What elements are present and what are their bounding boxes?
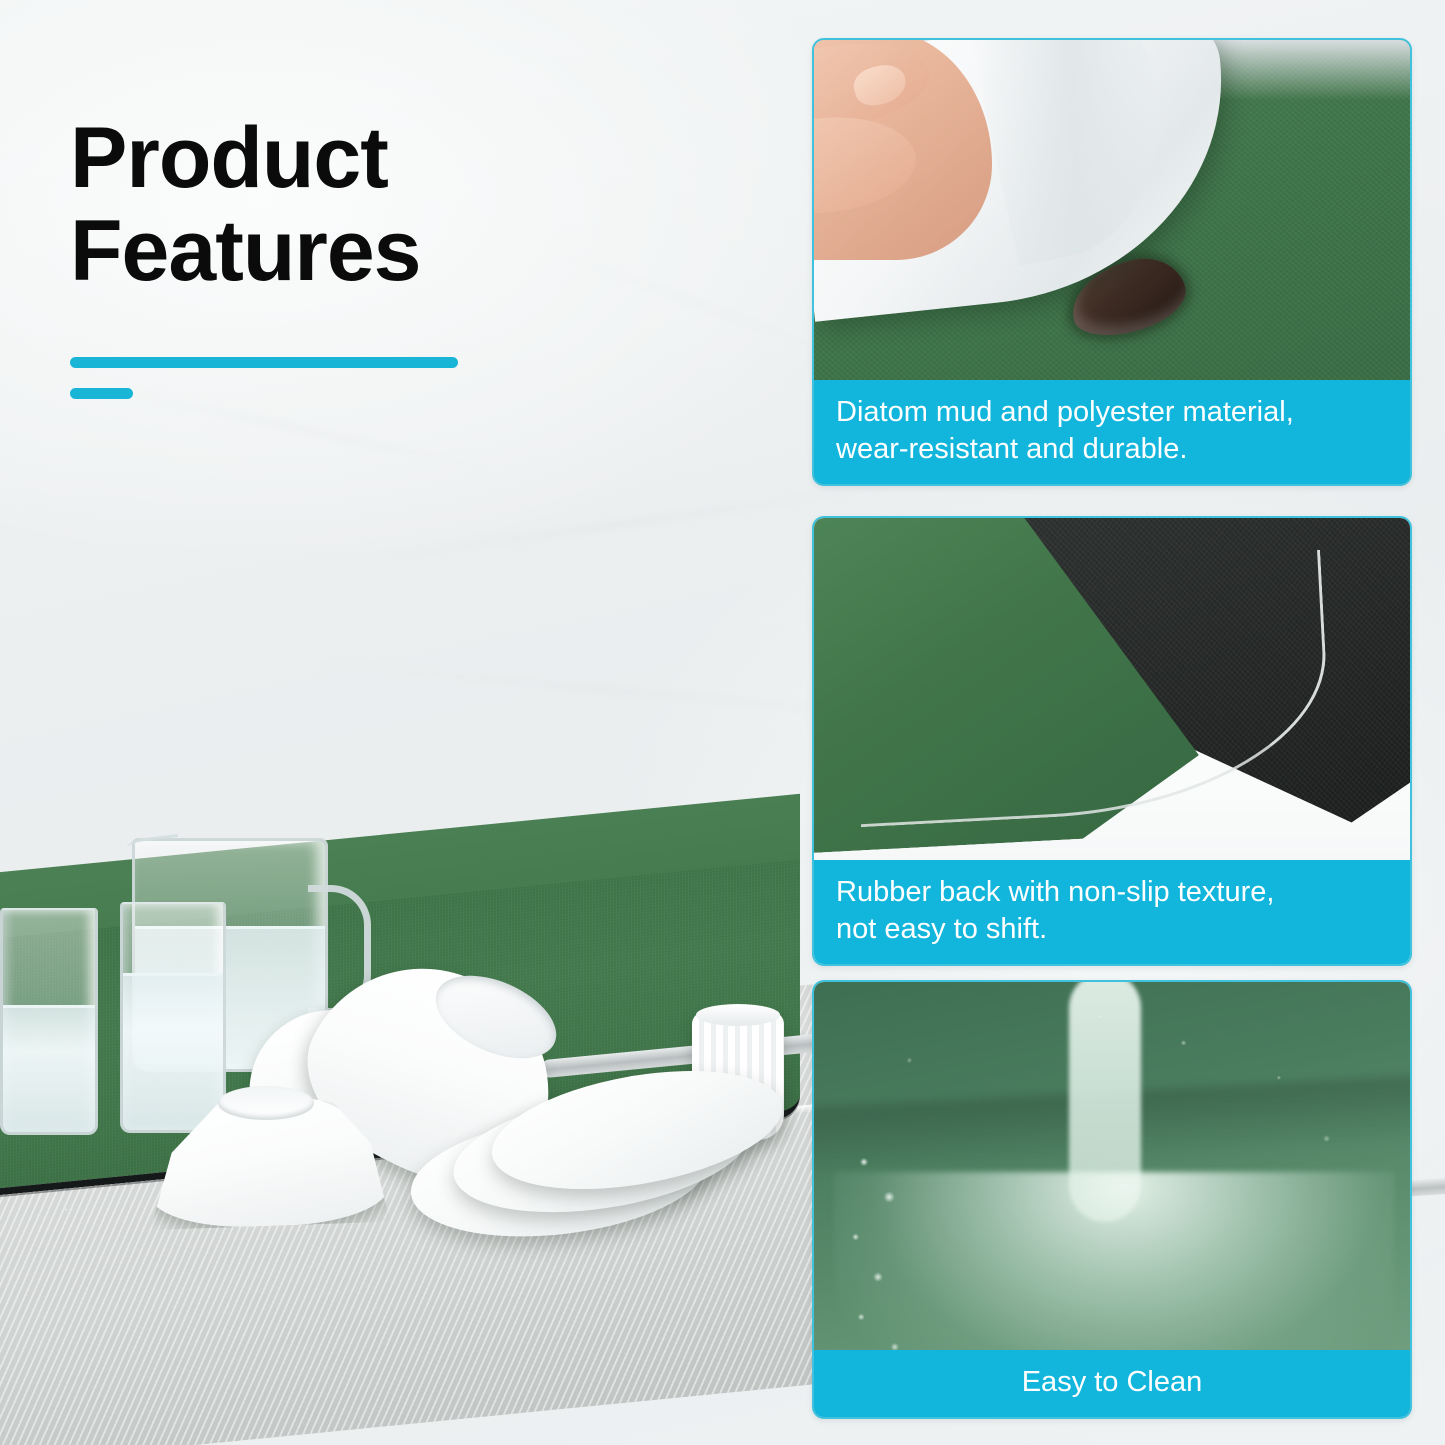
pitcher-spout — [126, 834, 180, 859]
feature-card-material: Diatom mud and polyester material, wear-… — [812, 38, 1412, 486]
feature-photo-non-slip: Rubber back with non-slip texture, not e… — [814, 518, 1410, 964]
product-features-poster: Product Features — [0, 0, 1445, 1445]
drinking-glass — [120, 902, 226, 1133]
feature-card-non-slip: Rubber back with non-slip texture, not e… — [812, 516, 1412, 966]
bowl-foot — [218, 1086, 314, 1120]
glass-water — [123, 973, 223, 1130]
feature-photo-material: Diatom mud and polyester material, wear-… — [814, 40, 1410, 484]
glass-water — [3, 1005, 95, 1132]
hero-product-scene — [0, 760, 840, 1445]
finger — [814, 111, 920, 220]
marble-vein — [124, 391, 496, 472]
feature-photo-easy-clean: Easy to Clean — [814, 982, 1410, 1417]
mat-fold-edge — [848, 550, 1334, 827]
drinking-glass — [0, 908, 98, 1135]
title-accent-bar-short — [70, 388, 133, 399]
feature-card-easy-clean: Easy to Clean — [812, 980, 1412, 1419]
feature-caption-material: Diatom mud and polyester material, wear-… — [814, 380, 1410, 484]
feature-caption-easy-clean: Easy to Clean — [814, 1350, 1410, 1417]
feature-caption-non-slip: Rubber back with non-slip texture, not e… — [814, 860, 1410, 964]
title-accent-bar-long — [70, 357, 458, 368]
page-title: Product Features — [70, 112, 690, 298]
